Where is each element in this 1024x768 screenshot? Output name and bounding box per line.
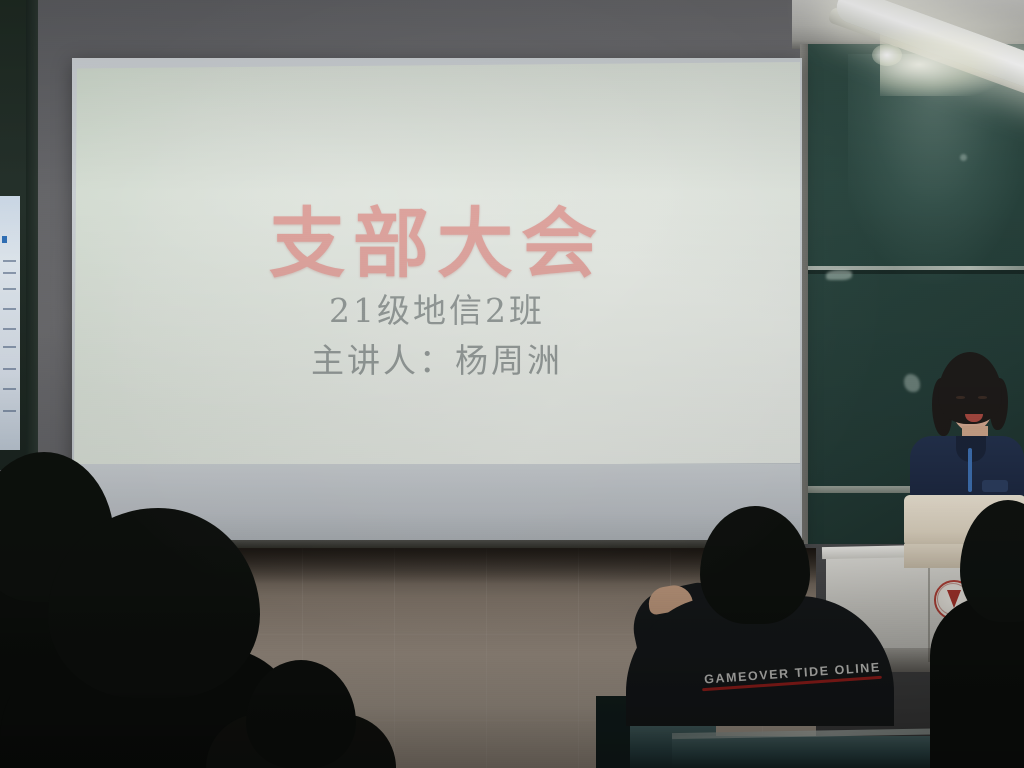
poster-text-line [3,368,16,370]
slide-title: 支部大会 [74,182,800,292]
slide-subtitle-presenter: 主讲人：杨周洲 [74,334,800,382]
left-wall-post [26,0,38,470]
chalk-smudge [826,270,852,280]
poster-accent-mark [2,236,7,243]
poster-text-line [3,260,16,262]
chalkboard-light-glare [848,54,1024,284]
notice-poster [0,196,20,450]
poster-text-line [3,328,16,330]
chalk-smudge [960,154,967,161]
light-tube-end-glow [872,44,902,66]
slide-subtitle-class: 21级地信2班 [74,284,800,332]
poster-text-line [3,288,16,290]
projected-slide: 支部大会 21级地信2班 主讲人：杨周洲 [74,62,800,467]
presenter-zipper [968,448,972,492]
presenter-eye-left [956,396,965,399]
poster-text-line [3,272,16,274]
presenter-eye-right [978,396,987,399]
poster-text-line [3,346,16,348]
presenter-jacket-logo [982,480,1008,492]
poster-text-line [3,410,16,412]
poster-text-line [3,388,16,390]
poster-text-line [3,308,16,310]
desk-side-panel [596,696,630,768]
classroom-photo-scene: 支部大会 21级地信2班 主讲人：杨周洲 [0,0,1024,768]
